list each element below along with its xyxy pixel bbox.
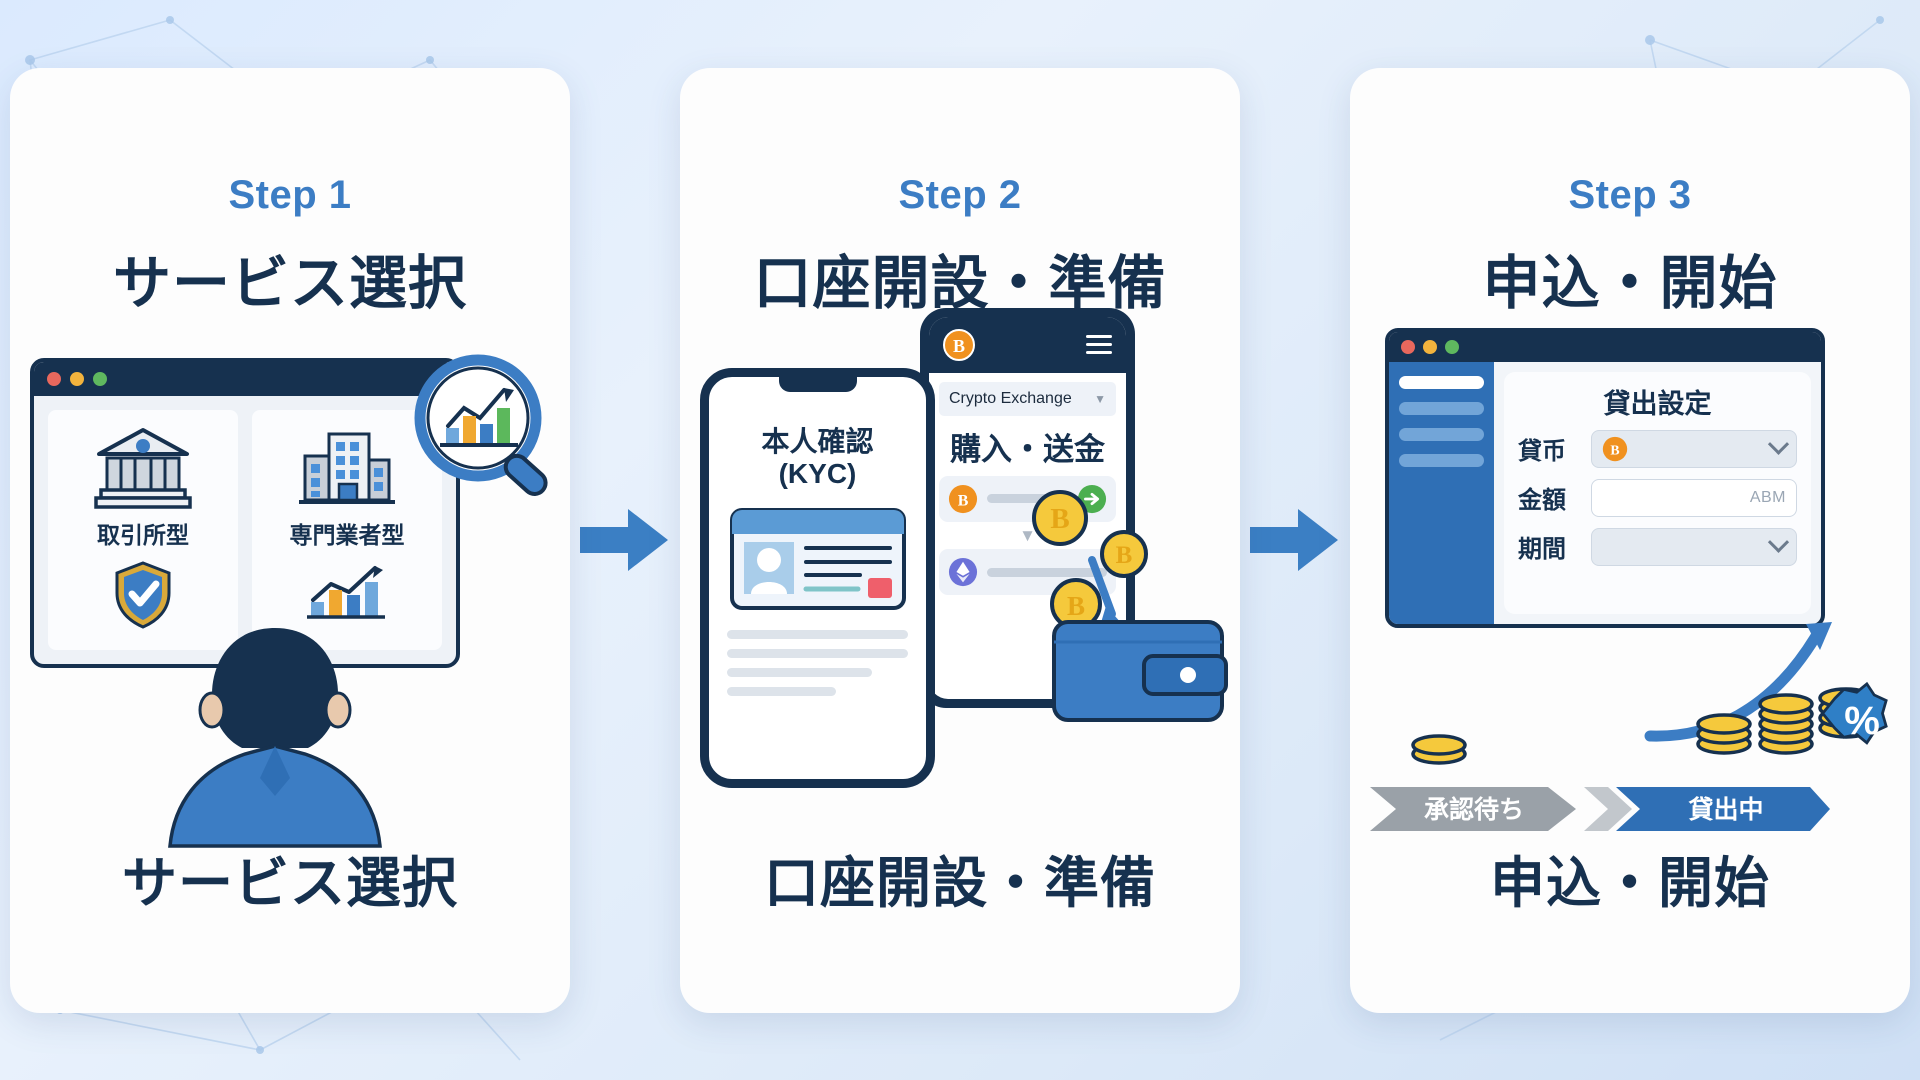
- steps-board: Step 1 サービス選択: [0, 0, 1920, 1080]
- status-label-active: 貸出中: [1688, 795, 1763, 824]
- office-building-icon: [297, 424, 397, 510]
- step-2-kicker: Step 2: [898, 173, 1021, 218]
- lending-status-flow: 承認待ち 貸出中: [1370, 784, 1830, 834]
- amount-placeholder: ABM: [1750, 489, 1786, 507]
- maximize-dot[interactable]: [1445, 340, 1459, 354]
- exchange-select-value: Crypto Exchange: [949, 390, 1072, 408]
- kyc-heading-line1: 本人確認: [709, 426, 926, 458]
- step-card-3[interactable]: Step 3 申込・開始 貸出設定: [1350, 68, 1910, 1013]
- tile-label-specialist: 専門業者型: [290, 516, 405, 550]
- currency-select[interactable]: B: [1591, 430, 1797, 468]
- person-back-view: [140, 618, 410, 848]
- bitcoin-icon: B: [948, 484, 978, 514]
- kyc-text-lines: [727, 630, 908, 696]
- field-row-currency: 貸币 B: [1518, 430, 1797, 468]
- bitcoin-icon: B: [943, 329, 975, 361]
- step-1-illustration: 取引所型: [10, 338, 570, 838]
- lending-dashboard-window[interactable]: 貸出設定 貸币 B 金額: [1385, 328, 1825, 628]
- step-1-footer-label: サービス選択: [10, 838, 570, 918]
- bank-icon: [93, 424, 193, 510]
- status-label-pending: 承認待ち: [1424, 795, 1524, 824]
- svg-text:B: B: [958, 492, 969, 509]
- panel-title: 貸出設定: [1518, 382, 1797, 421]
- exchange-app-header: B: [929, 317, 1126, 373]
- step-connector-arrow: [1250, 505, 1340, 575]
- kyc-heading-line2: (KYC): [709, 458, 926, 490]
- wallet-icon: [1048, 608, 1228, 728]
- kyc-phone[interactable]: 本人確認 (KYC): [700, 368, 935, 788]
- step-2-footer-label: 口座開設・準備: [680, 838, 1240, 918]
- connector-1: [570, 505, 680, 575]
- magnifier-chart-icon: [400, 348, 570, 518]
- amount-input[interactable]: ABM: [1591, 479, 1797, 517]
- id-card-icon: [728, 504, 908, 614]
- chevron-down-icon: [1768, 532, 1789, 553]
- single-coin-icon: [1408, 728, 1470, 768]
- step-card-1[interactable]: Step 1 サービス選択: [10, 68, 570, 1013]
- bar-chart-growth-icon: [305, 562, 389, 624]
- svg-text:B: B: [1610, 442, 1619, 457]
- step-card-2[interactable]: Step 2 口座開設・準備 B Crypto Exchange ▼: [680, 68, 1240, 1013]
- minimize-dot[interactable]: [70, 372, 84, 386]
- sidebar-item[interactable]: [1399, 428, 1484, 441]
- step-connector-arrow: [580, 505, 670, 575]
- ethereum-icon: [948, 557, 978, 587]
- sidebar-item-active[interactable]: [1399, 376, 1484, 389]
- field-row-period: 期間: [1518, 528, 1797, 566]
- growth-coins-illustration: %: [1640, 616, 1900, 776]
- service-tile-exchange[interactable]: 取引所型: [48, 410, 238, 650]
- exchange-select[interactable]: Crypto Exchange ▼: [939, 382, 1116, 416]
- close-dot[interactable]: [47, 372, 61, 386]
- tile-label-exchange: 取引所型: [97, 516, 189, 550]
- dashboard-body: 貸出設定 貸币 B 金額: [1389, 362, 1821, 624]
- step-3-kicker: Step 3: [1568, 173, 1691, 218]
- dashboard-titlebar: [1389, 332, 1821, 362]
- close-dot[interactable]: [1401, 340, 1415, 354]
- field-label-currency: 貸币: [1518, 431, 1580, 466]
- sidebar-item[interactable]: [1399, 454, 1484, 467]
- kyc-heading: 本人確認 (KYC): [709, 426, 926, 490]
- svg-text:%: %: [1844, 699, 1880, 743]
- phone-notch: [779, 377, 857, 392]
- maximize-dot[interactable]: [93, 372, 107, 386]
- lending-settings-panel: 貸出設定 貸币 B 金額: [1504, 372, 1811, 614]
- period-select[interactable]: [1591, 528, 1797, 566]
- field-label-period: 期間: [1518, 529, 1580, 564]
- hamburger-menu-icon[interactable]: [1086, 330, 1112, 359]
- step-1-kicker: Step 1: [228, 173, 351, 218]
- step-1-title: サービス選択: [113, 236, 467, 320]
- sidebar-item[interactable]: [1399, 402, 1484, 415]
- dashboard-sidebar[interactable]: [1389, 362, 1494, 624]
- exchange-heading: 購入・送金: [929, 424, 1126, 469]
- chevron-down-icon: ▼: [1094, 392, 1106, 406]
- step-2-illustration: B Crypto Exchange ▼ 購入・送金 B: [680, 308, 1240, 808]
- step-3-footer-label: 申込・開始: [1350, 838, 1910, 918]
- field-row-amount: 金額 ABM: [1518, 479, 1797, 517]
- connector-2: [1240, 505, 1350, 575]
- minimize-dot[interactable]: [1423, 340, 1437, 354]
- bitcoin-icon: B: [1602, 436, 1628, 462]
- chevron-down-icon: [1768, 434, 1789, 455]
- svg-text:B: B: [953, 336, 965, 356]
- svg-text:B: B: [1116, 542, 1133, 569]
- step-3-illustration: 貸出設定 貸币 B 金額: [1350, 328, 1910, 828]
- browser-titlebar: [34, 362, 456, 396]
- step-3-title: 申込・開始: [1482, 236, 1777, 320]
- field-label-amount: 金額: [1518, 480, 1580, 515]
- svg-text:B: B: [1050, 503, 1069, 535]
